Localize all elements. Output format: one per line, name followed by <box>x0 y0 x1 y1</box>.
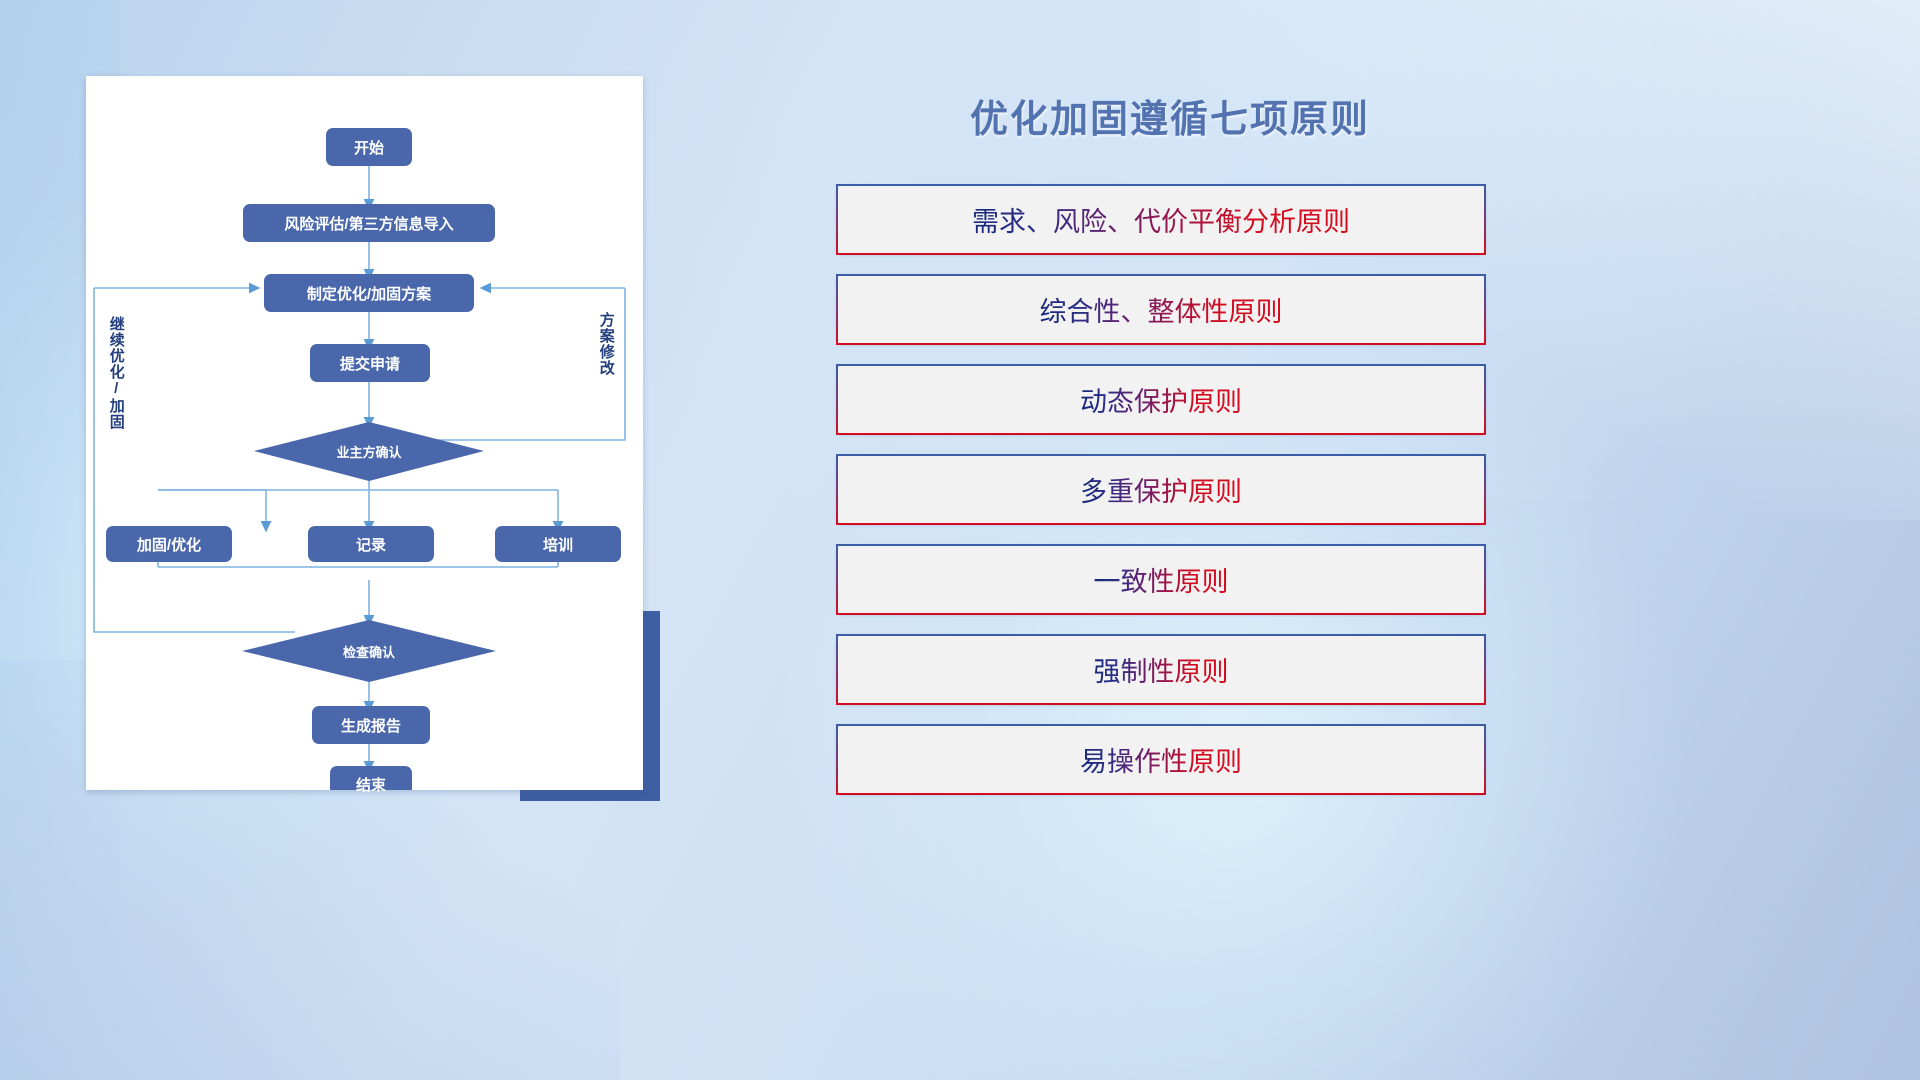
principle-label: 一致性原则 <box>1094 560 1229 599</box>
flow-edge-label-plan-revision: 方案修改 <box>598 312 614 412</box>
principle-label: 综合性、整体性原则 <box>1040 290 1283 329</box>
flowchart-node-shapes <box>106 128 621 790</box>
principle-label: 需求、风险、代价平衡分析原则 <box>972 200 1350 239</box>
principle-item-2[interactable]: 综合性、整体性原则 <box>836 274 1486 345</box>
flow-edge-label-continue-optimize: 继续优化/加固 <box>108 316 124 446</box>
page-title: 优化加固遵循七项原则 <box>820 88 1520 143</box>
principle-label: 多重保护原则 <box>1080 470 1242 509</box>
principles-panel: 优化加固遵循七项原则 需求、风险、代价平衡分析原则 综合性、整体性原则 动态保护… <box>820 60 1520 850</box>
principle-label: 易操作性原则 <box>1080 740 1242 779</box>
principle-item-4[interactable]: 多重保护原则 <box>836 454 1486 525</box>
principle-item-5[interactable]: 一致性原则 <box>836 544 1486 615</box>
flowchart-card: 开始 风险评估/第三方信息导入 制定优化/加固方案 提交申请 业主方确认 加固/… <box>86 76 643 790</box>
principle-item-1[interactable]: 需求、风险、代价平衡分析原则 <box>836 184 1486 255</box>
principles-list: 需求、风险、代价平衡分析原则 综合性、整体性原则 动态保护原则 多重保护原则 一… <box>836 184 1486 814</box>
principle-item-7[interactable]: 易操作性原则 <box>836 724 1486 795</box>
principle-item-3[interactable]: 动态保护原则 <box>836 364 1486 435</box>
principle-label: 强制性原则 <box>1094 650 1229 689</box>
principle-item-6[interactable]: 强制性原则 <box>836 634 1486 705</box>
flowchart-canvas <box>86 76 643 790</box>
principle-label: 动态保护原则 <box>1080 380 1242 419</box>
